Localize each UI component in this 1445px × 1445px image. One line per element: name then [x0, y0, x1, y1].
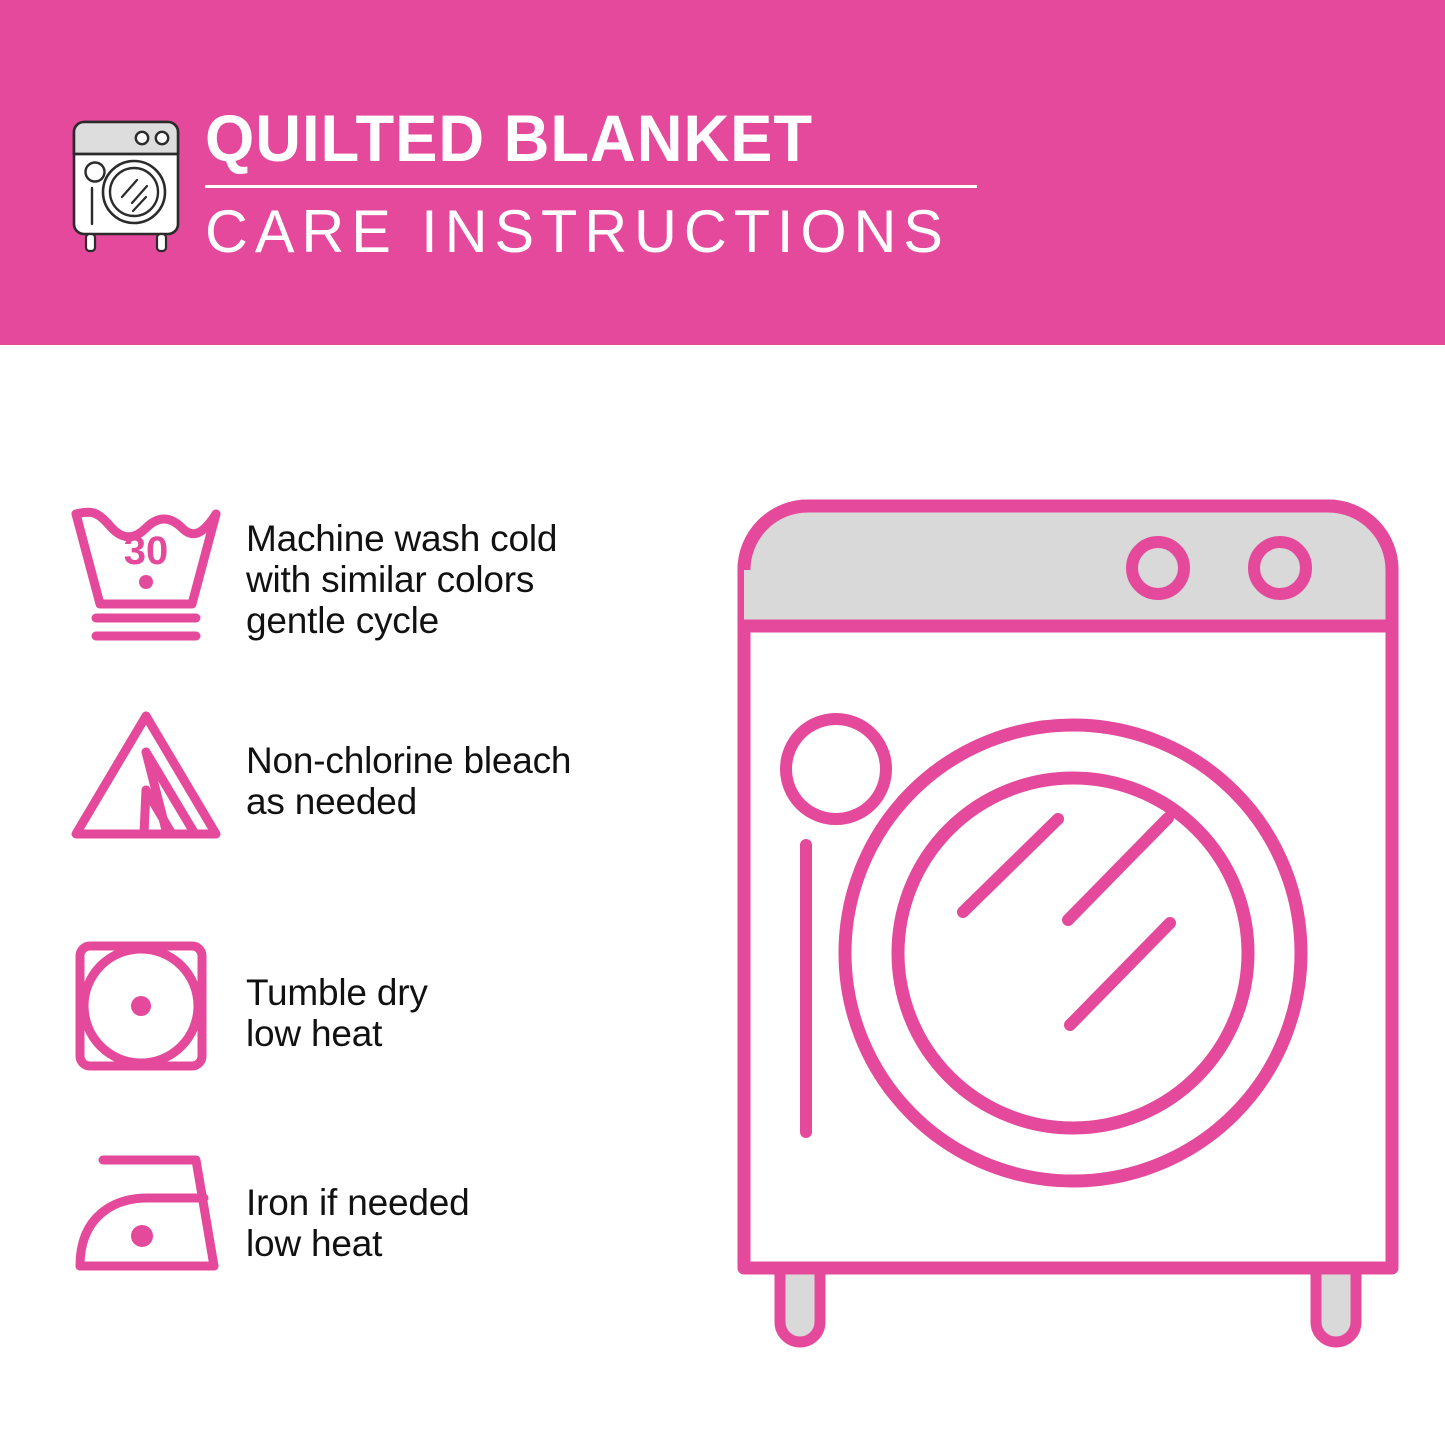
machine-knob-right	[1254, 542, 1306, 594]
care-label-line: Non-chlorine bleach	[246, 740, 686, 781]
front-load-washing-machine-illustration	[718, 480, 1418, 1370]
wash-temperature-value: 30	[124, 529, 169, 573]
care-instructions-infographic: QUILTED BLANKET CARE INSTRUCTIONS 30	[0, 0, 1445, 1445]
care-row-iron: Iron if needed low heat	[66, 1146, 686, 1281]
care-row-machine-wash: 30 Machine wash cold with similar colors…	[66, 500, 686, 645]
header-title-block: QUILTED BLANKET CARE INSTRUCTIONS	[205, 100, 995, 266]
wash-tub-30-gentle-icon: 30	[66, 500, 246, 645]
page-title: QUILTED BLANKET	[205, 100, 963, 176]
care-label-line: low heat	[246, 1223, 686, 1264]
tumble-dry-low-heat-icon	[66, 936, 246, 1076]
page-subtitle: CARE INSTRUCTIONS	[205, 198, 987, 266]
care-label-line: Iron if needed	[246, 1182, 686, 1223]
care-row-tumble-dry: Tumble dry low heat	[66, 936, 686, 1076]
care-label-bleach: Non-chlorine bleach as needed	[246, 706, 686, 822]
machine-knob-left	[1132, 542, 1184, 594]
care-label-iron: Iron if needed low heat	[246, 1146, 686, 1264]
non-chlorine-bleach-triangle-icon	[66, 706, 246, 846]
care-label-line: with similar colors	[246, 559, 686, 600]
care-label-line: Tumble dry	[246, 972, 686, 1013]
header-banner: QUILTED BLANKET CARE INSTRUCTIONS	[0, 0, 1445, 345]
machine-door-inner-ring	[898, 778, 1248, 1128]
care-label-line: gentle cycle	[246, 600, 686, 641]
care-label-line: low heat	[246, 1013, 686, 1054]
care-label-line: as needed	[246, 781, 686, 822]
care-label-tumble-dry: Tumble dry low heat	[246, 936, 686, 1054]
care-label-line: Machine wash cold	[246, 518, 686, 559]
care-row-bleach: Non-chlorine bleach as needed	[66, 706, 686, 846]
machine-dial	[786, 719, 886, 819]
care-label-machine-wash: Machine wash cold with similar colors ge…	[246, 500, 686, 641]
washing-machine-icon	[62, 104, 190, 256]
iron-low-heat-icon	[66, 1146, 246, 1281]
title-divider	[205, 185, 977, 188]
